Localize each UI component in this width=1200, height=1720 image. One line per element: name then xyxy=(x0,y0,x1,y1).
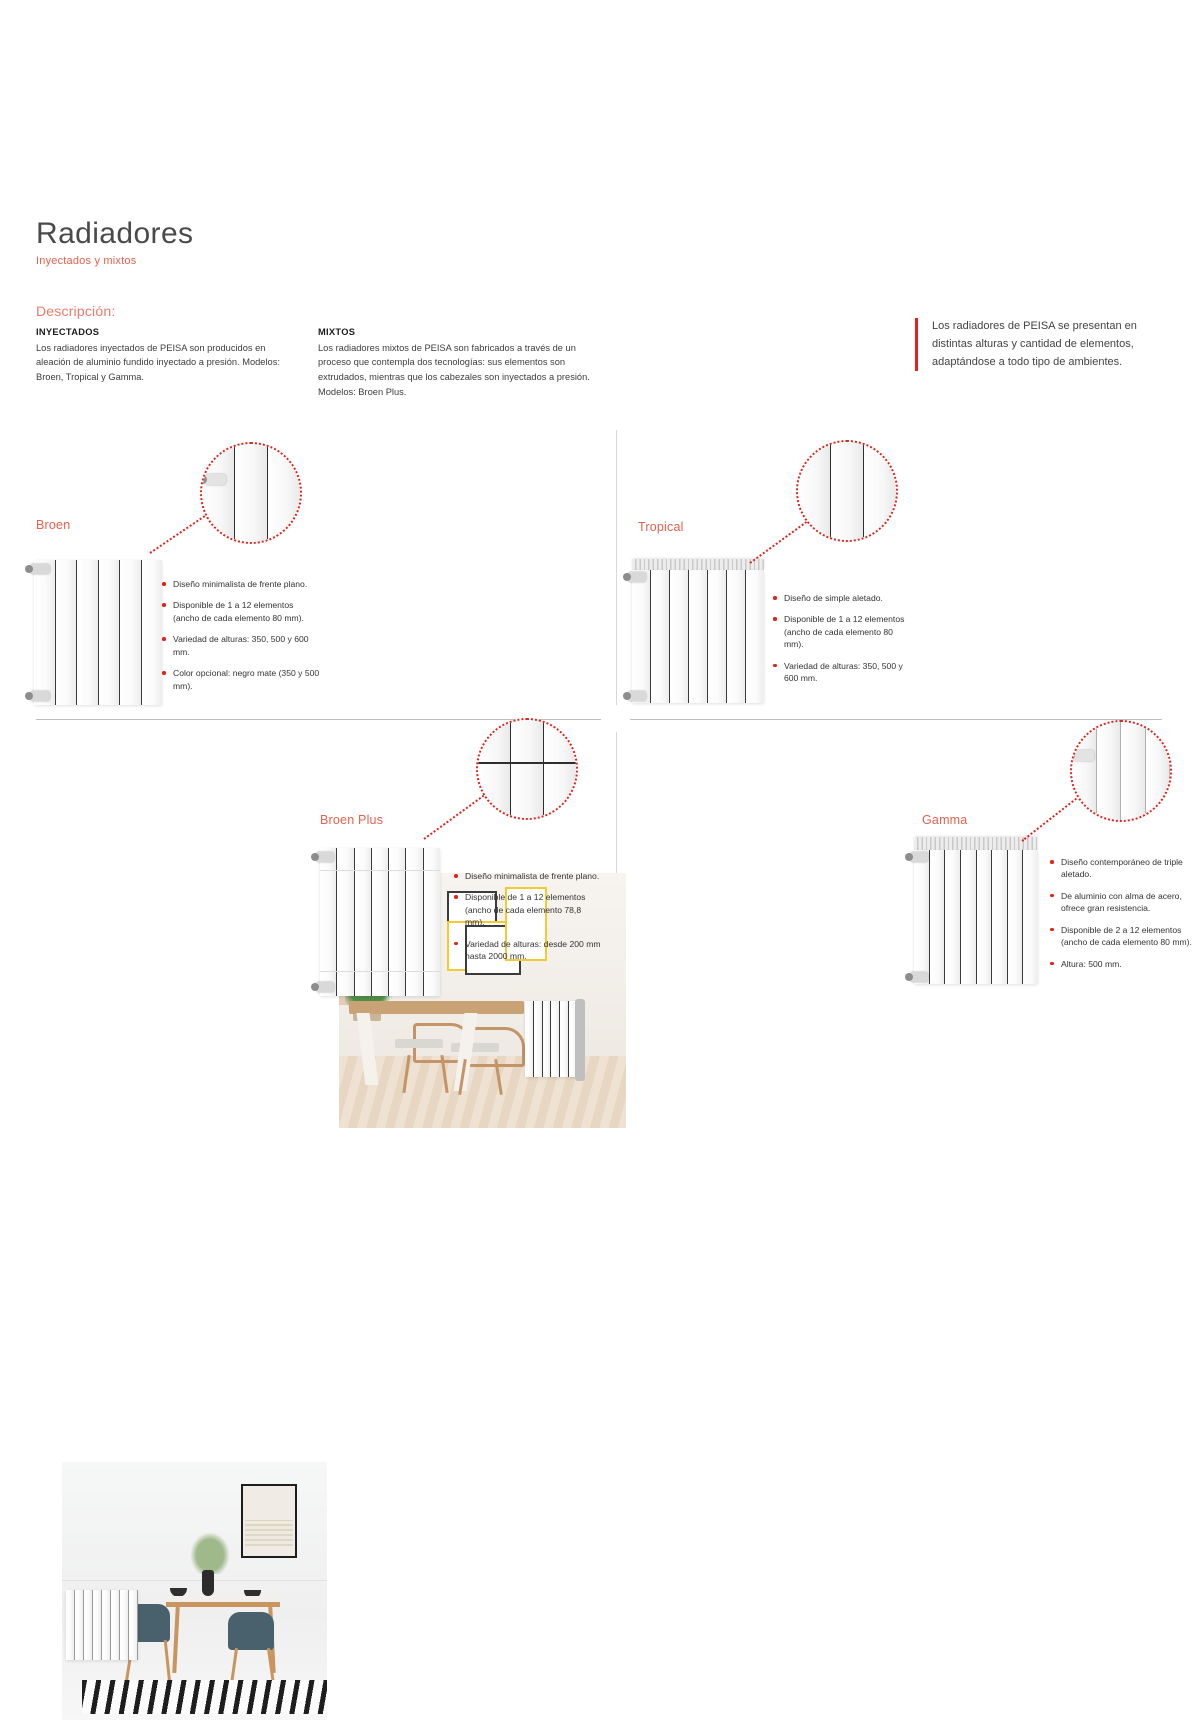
magnifier-detail-broen-plus xyxy=(478,720,576,818)
product-name-broen: Broen xyxy=(36,518,70,532)
feature-item: Color opcional: negro mate (350 y 500 mm… xyxy=(162,667,322,692)
feature-item: Altura: 500 mm. xyxy=(1050,958,1200,970)
valve-bottom-icon xyxy=(910,972,928,982)
leader-line-broen-plus xyxy=(423,792,487,839)
product-name-gamma: Gamma xyxy=(922,813,967,827)
feature-item: Variedad de alturas: 350, 500 y 600 mm. xyxy=(773,660,913,685)
description-column-mixtos: MIXTOS Los radiadores mixtos de PEISA so… xyxy=(318,325,590,399)
feature-item: De aluminio con alma de acero, ofrece gr… xyxy=(1050,890,1200,915)
feature-item: Diseño contemporáneo de triple aletado. xyxy=(1050,856,1200,881)
radiator-image-tropical xyxy=(632,570,764,703)
product-section-broen-plus: Broen Plus Diseño minimalista de frente … xyxy=(24,728,604,1000)
feature-list-tropical: Diseño de simple aletado. Disponible de … xyxy=(773,592,913,685)
feature-list-broen-plus: Diseño minimalista de frente plano. Disp… xyxy=(454,870,602,963)
feature-item: Diseño minimalista de frente plano. xyxy=(162,578,322,590)
description-lead-inyectados: INYECTADOS xyxy=(36,325,298,340)
finned-top-icon xyxy=(632,559,764,570)
radiator-in-photo-broen-plus xyxy=(66,1590,138,1660)
magnifier-broen-plus xyxy=(476,718,578,820)
feature-item: Diseño minimalista de frente plano. xyxy=(454,870,602,882)
description-body-inyectados: Los radiadores inyectados de PEISA son p… xyxy=(36,343,280,382)
magnifier-gamma xyxy=(1070,720,1172,822)
valve-bottom-icon xyxy=(316,982,334,992)
section-divider-right xyxy=(630,719,1162,720)
column-divider-top xyxy=(616,430,617,705)
description-lead-mixtos: MIXTOS xyxy=(318,325,590,340)
description-heading: Descripción: xyxy=(36,303,115,319)
radiator-image-broen xyxy=(34,560,162,705)
feature-item: Diseño de simple aletado. xyxy=(773,592,913,604)
valve-bottom-icon xyxy=(30,691,50,701)
valve-top-icon xyxy=(30,564,50,574)
page-subtitle: Inyectados y mixtos xyxy=(36,255,193,267)
magnifier-valve-icon xyxy=(1072,750,1094,761)
product-name-broen-plus: Broen Plus xyxy=(320,813,383,827)
magnifier-valve-icon xyxy=(204,474,226,485)
valve-top-icon xyxy=(628,572,646,582)
radiator-in-photo-broen xyxy=(525,1001,577,1077)
valve-top-icon xyxy=(910,852,928,862)
pullquote: Los radiadores de PEISA se presentan en … xyxy=(915,318,1177,371)
feature-item: Disponible de 2 a 12 elementos (ancho de… xyxy=(1050,924,1200,949)
magnifier-detail-tropical xyxy=(798,442,896,540)
leader-line-tropical xyxy=(749,516,813,563)
valve-top-icon xyxy=(316,852,334,862)
feature-item: Disponible de 1 a 12 elementos (ancho de… xyxy=(454,891,602,928)
description-column-inyectados: INYECTADOS Los radiadores inyectados de … xyxy=(36,325,298,385)
magnifier-detail-broen xyxy=(202,444,300,542)
feature-list-broen: Diseño minimalista de frente plano. Disp… xyxy=(162,578,322,692)
magnifier-tropical xyxy=(796,440,898,542)
title-block: Radiadores Inyectados y mixtos xyxy=(36,218,193,267)
feature-list-gamma: Diseño contemporáneo de triple aletado. … xyxy=(1050,856,1200,970)
magnifier-broen xyxy=(200,442,302,544)
radiator-image-gamma xyxy=(914,850,1038,984)
radiator-image-broen-plus xyxy=(320,848,440,996)
feature-item: Variedad de alturas: desde 200 mm hasta … xyxy=(454,938,602,963)
product-section-broen: Broen xyxy=(24,430,604,710)
catalog-page: Radiadores Inyectados y mixtos Descripci… xyxy=(0,0,1200,1200)
leader-line-gamma xyxy=(1021,791,1085,842)
feature-item: Disponible de 1 a 12 elementos (ancho de… xyxy=(773,613,913,650)
magnifier-detail-gamma xyxy=(1072,722,1170,820)
page-title: Radiadores xyxy=(36,218,193,250)
valve-bottom-icon xyxy=(628,691,646,701)
triple-finned-top-icon xyxy=(914,837,1038,850)
description-body-mixtos: Los radiadores mixtos de PEISA son fabri… xyxy=(318,343,590,397)
product-section-gamma: Gamma Diseño contemporáneo de triple ale… xyxy=(628,728,1176,1000)
product-section-tropical: Tropical xyxy=(628,430,1176,710)
product-name-tropical: Tropical xyxy=(638,520,684,534)
feature-item: Variedad de alturas: 350, 500 y 600 mm. xyxy=(162,633,322,658)
feature-item: Disponible de 1 a 12 elementos (ancho de… xyxy=(162,599,322,624)
lifestyle-photo-broen-plus xyxy=(62,1462,327,1720)
